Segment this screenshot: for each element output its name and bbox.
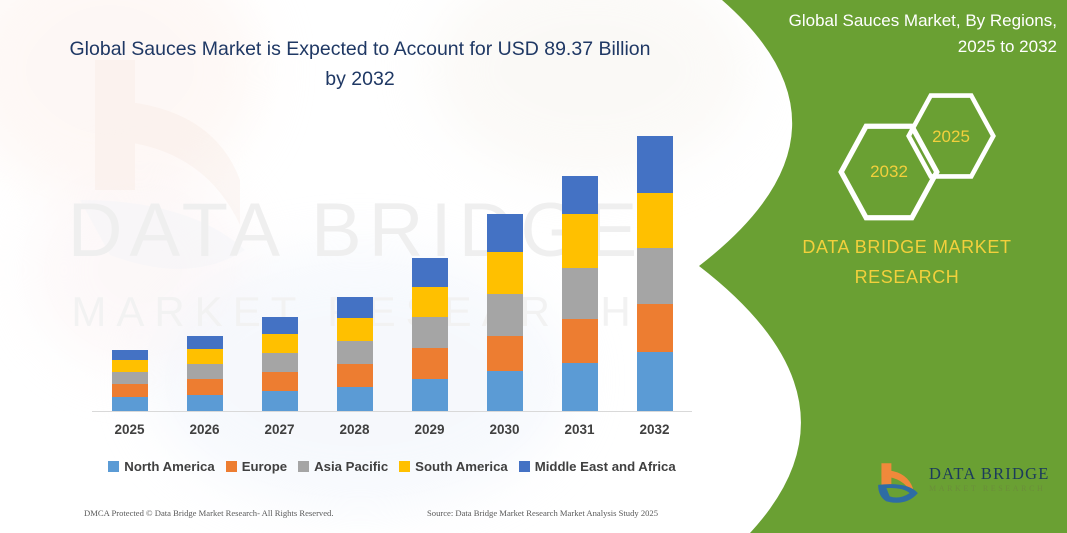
bar-segment [562, 319, 598, 363]
legend-swatch-icon [298, 461, 309, 472]
legend-label: Europe [242, 459, 287, 474]
bar-column [487, 214, 523, 411]
hexagon-start-year: 2025 [905, 90, 997, 182]
bar-segment [337, 364, 373, 387]
bar-segment [637, 248, 673, 304]
legend-label: North America [124, 459, 214, 474]
right-panel-content: Global Sauces Market, By Regions, 2025 t… [745, 0, 1067, 533]
bar-column [337, 297, 373, 411]
bar-segment [112, 350, 148, 360]
bar-segment [112, 360, 148, 372]
x-axis-labels: 20252026202720282029203020312032 [92, 422, 692, 444]
bar-segment [487, 336, 523, 371]
logo-primary-text: DATA BRIDGE [929, 464, 1059, 483]
footer: DMCA Protected © Data Bridge Market Rese… [0, 508, 712, 528]
bar-segment [262, 353, 298, 372]
bar-column [187, 336, 223, 411]
legend-label: South America [415, 459, 508, 474]
bar-segment [637, 352, 673, 411]
hexagon-icon [905, 90, 997, 182]
bar-segment [637, 193, 673, 248]
footer-source: Source: Data Bridge Market Research Mark… [427, 508, 658, 518]
bar-segment [412, 287, 448, 317]
x-axis-tick-2031: 2031 [545, 422, 615, 437]
company-logo: DATA BRIDGE MARKET RESEARCH [873, 458, 1058, 510]
x-axis-tick-2029: 2029 [395, 422, 465, 437]
bar-segment [637, 136, 673, 193]
bar-column [637, 136, 673, 411]
x-axis-tick-2030: 2030 [470, 422, 540, 437]
bar-segment [187, 395, 223, 411]
bar-column [412, 258, 448, 411]
x-axis-tick-2025: 2025 [95, 422, 165, 437]
legend-swatch-icon [108, 461, 119, 472]
bar-segment [112, 384, 148, 397]
bar-segment [187, 379, 223, 395]
bar-segment [412, 317, 448, 348]
bar-segment [412, 379, 448, 411]
logo-secondary-text: MARKET RESEARCH [929, 483, 1059, 495]
bar-segment [112, 397, 148, 411]
bar-column [262, 317, 298, 411]
legend-label: Asia Pacific [314, 459, 388, 474]
bar-segment [187, 349, 223, 364]
legend-swatch-icon [519, 461, 530, 472]
bar-segment [262, 372, 298, 391]
legend-swatch-icon [226, 461, 237, 472]
data-bridge-logo-icon [873, 460, 923, 508]
x-axis-tick-2028: 2028 [320, 422, 390, 437]
bar-segment [337, 387, 373, 411]
bar-segment [487, 214, 523, 252]
bar-segment [112, 372, 148, 384]
brand-name: DATA BRIDGE MARKET RESEARCH [756, 232, 1058, 292]
bar-column [562, 176, 598, 411]
legend-item[interactable]: Asia Pacific [298, 459, 388, 474]
legend-item[interactable]: South America [399, 459, 508, 474]
chart-plot-area [92, 120, 692, 412]
bar-segment [412, 258, 448, 287]
hexagon-end-year-label: 2032 [837, 162, 941, 182]
bar-segment [412, 348, 448, 379]
bar-segment [637, 304, 673, 352]
bar-segment [262, 334, 298, 353]
bar-segment [337, 297, 373, 318]
panel-title: Global Sauces Market, By Regions, 2025 t… [755, 8, 1057, 60]
hexagon-group: 2032 2025 [745, 90, 1067, 220]
x-axis-line [92, 411, 692, 412]
x-axis-tick-2027: 2027 [245, 422, 315, 437]
logo-text: DATA BRIDGE MARKET RESEARCH [929, 464, 1059, 495]
bar-segment [187, 336, 223, 349]
footer-copyright: DMCA Protected © Data Bridge Market Rese… [84, 508, 334, 518]
x-axis-tick-2032: 2032 [620, 422, 690, 437]
bar-segment [262, 317, 298, 334]
bar-segment [187, 364, 223, 379]
bar-segment [337, 341, 373, 364]
legend-item[interactable]: North America [108, 459, 214, 474]
bar-segment [562, 363, 598, 411]
bar-segment [487, 294, 523, 336]
legend-label: Middle East and Africa [535, 459, 676, 474]
bar-segment [562, 176, 598, 214]
bar-segment [262, 391, 298, 411]
infographic-page: DATA BRIDGE MARKET RESEARCH Global Sauce… [0, 0, 1067, 533]
hexagon-icon [837, 120, 941, 224]
legend-item[interactable]: Middle East and Africa [519, 459, 676, 474]
chart-legend: North AmericaEuropeAsia PacificSouth Ame… [92, 455, 692, 477]
chart-title: Global Sauces Market is Expected to Acco… [60, 34, 660, 94]
legend-swatch-icon [399, 461, 410, 472]
bar-column [112, 350, 148, 411]
bar-segment [562, 214, 598, 268]
hexagon-start-year-label: 2025 [905, 127, 997, 147]
x-axis-tick-2026: 2026 [170, 422, 240, 437]
bar-segment [487, 371, 523, 411]
bar-segment [487, 252, 523, 294]
legend-item[interactable]: Europe [226, 459, 287, 474]
bar-segment [562, 268, 598, 319]
bar-segment [337, 318, 373, 341]
hexagon-end-year: 2032 [837, 120, 941, 224]
